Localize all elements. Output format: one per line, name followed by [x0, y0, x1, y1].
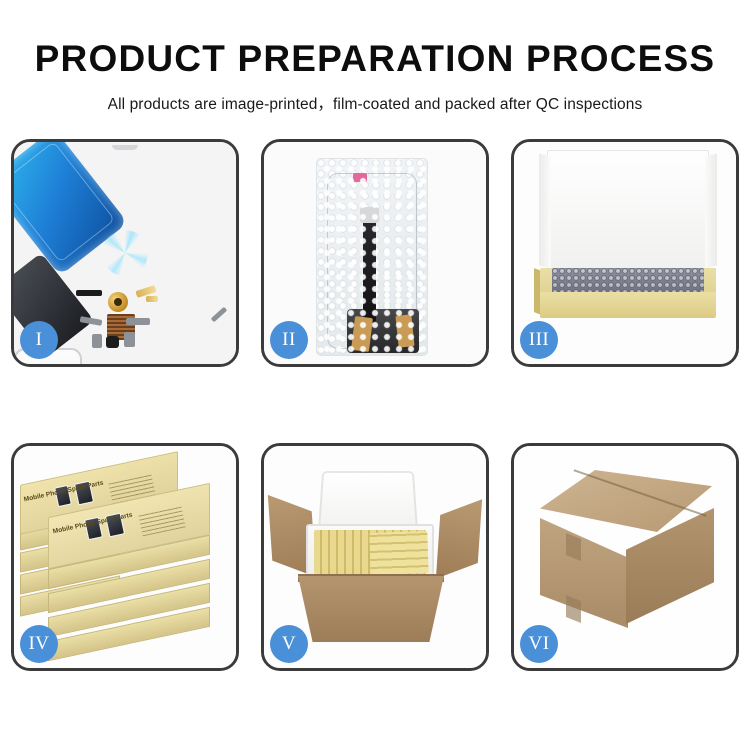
page-header: PRODUCT PREPARATION PROCESS All products…: [0, 0, 750, 114]
carton-flap-right: [436, 499, 482, 578]
page-subtitle: All products are image-printed，film-coat…: [0, 92, 750, 114]
process-step-panel-1[interactable]: I: [11, 139, 239, 367]
step-2-image: II: [264, 142, 486, 364]
step-3-image: III: [514, 142, 736, 364]
step-badge-3: III: [520, 321, 558, 359]
gold-connector-right-icon: [395, 314, 414, 347]
tweezer-icon: [211, 307, 228, 323]
camera-part-icon: [124, 332, 135, 347]
copper-coil-icon: [108, 292, 128, 312]
page-root: PRODUCT PREPARATION PROCESS All products…: [0, 0, 750, 750]
step-6-image: VI: [514, 446, 736, 668]
process-step-panel-4[interactable]: Mobile Phone Spare Parts Mobile Phone Sp…: [11, 443, 239, 671]
speaker-part-icon: [106, 336, 119, 348]
process-step-panel-5[interactable]: V: [261, 443, 489, 671]
process-step-panel-6[interactable]: VI: [511, 443, 739, 671]
step-badge-5: V: [270, 625, 308, 663]
carton-left-face: [540, 518, 628, 628]
grey-foam-padding: [552, 268, 704, 294]
step-badge-1: I: [20, 321, 58, 359]
small-part-icon: [92, 334, 102, 348]
process-step-grid: I II: [11, 139, 739, 739]
gold-clip-icon: [146, 296, 158, 302]
step-badge-2: II: [270, 321, 308, 359]
step-badge-6: VI: [520, 625, 558, 663]
connector-pad-icon: [360, 207, 379, 223]
box-front-face: [540, 292, 716, 318]
step-4-image: Mobile Phone Spare Parts Mobile Phone Sp…: [14, 446, 236, 668]
process-step-panel-2[interactable]: II: [261, 139, 489, 367]
page-title: PRODUCT PREPARATION PROCESS: [0, 40, 750, 77]
white-box-lid: [547, 150, 709, 274]
bar-part-icon: [76, 290, 102, 296]
carton-front-face: [298, 576, 444, 642]
flex-cable-icon: [126, 318, 150, 325]
carton-tape-lower: [566, 595, 581, 623]
step-1-image: I: [14, 142, 236, 364]
process-step-panel-3[interactable]: III: [511, 139, 739, 367]
step-badge-4: IV: [20, 625, 58, 663]
packed-boxes-row-right: [369, 531, 428, 575]
step-5-image: V: [264, 446, 486, 668]
flex-cable-strip-icon: [363, 211, 376, 323]
bubble-wrap-sleeve: [316, 158, 428, 356]
pink-label-icon: [353, 173, 367, 182]
